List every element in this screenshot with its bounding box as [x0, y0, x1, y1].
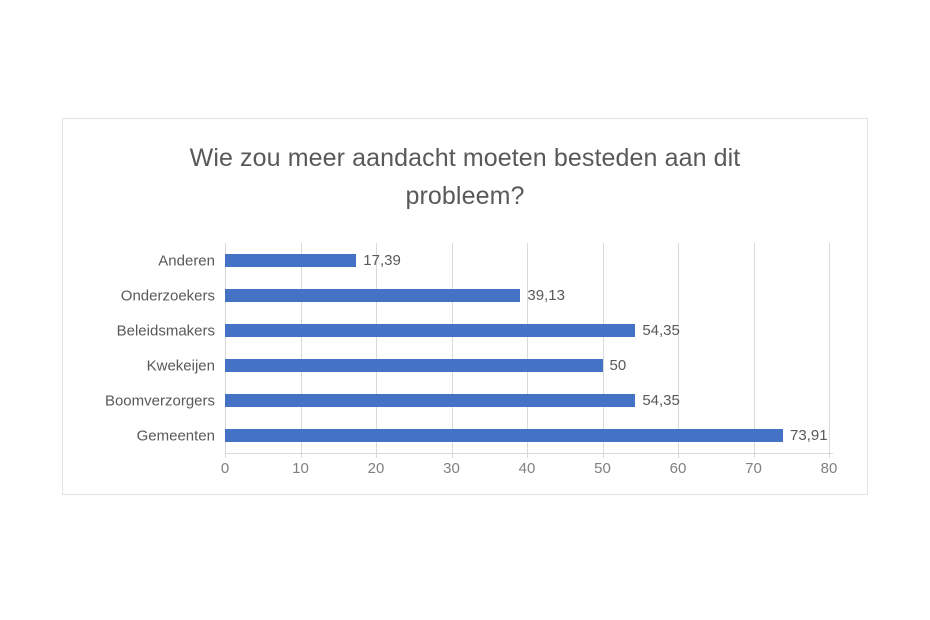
bar[interactable]	[225, 289, 520, 302]
x-axis-tick	[376, 453, 377, 458]
bar-row: Boomverzorgers54,35	[225, 383, 930, 418]
category-label: Kwekeijen	[147, 357, 215, 374]
chart-title: Wie zou meer aandacht moeten besteden aa…	[63, 139, 867, 215]
x-axis-tick-label: 80	[821, 460, 838, 477]
bar-value-label: 54,35	[642, 322, 680, 339]
x-axis-tick	[829, 453, 830, 458]
x-axis-tick	[754, 453, 755, 458]
chart-container: Wie zou meer aandacht moeten besteden aa…	[62, 118, 868, 495]
bar-value-label: 50	[610, 357, 627, 374]
bar-row: Beleidsmakers54,35	[225, 313, 930, 348]
bar-row: Anderen17,39	[225, 243, 930, 278]
x-axis-tick-label: 0	[221, 460, 229, 477]
bar-row: Kwekeijen50	[225, 348, 930, 383]
x-axis-tick	[452, 453, 453, 458]
category-label: Gemeenten	[137, 427, 215, 444]
x-axis-tick-label: 10	[292, 460, 309, 477]
x-axis-tick-label: 50	[594, 460, 611, 477]
x-axis-tick	[527, 453, 528, 458]
x-axis-line	[225, 453, 833, 454]
category-label: Onderzoekers	[121, 287, 215, 304]
bar-value-label: 54,35	[642, 392, 680, 409]
x-axis-tick-label: 30	[443, 460, 460, 477]
chart-title-line-1: Wie zou meer aandacht moeten besteden aa…	[118, 139, 812, 177]
category-label: Anderen	[158, 252, 215, 269]
x-axis-tick	[678, 453, 679, 458]
x-axis-tick-label: 40	[519, 460, 536, 477]
plot-area: Anderen17,39Onderzoekers39,13Beleidsmake…	[225, 243, 829, 453]
bar[interactable]	[225, 324, 635, 337]
x-axis-tick-label: 20	[368, 460, 385, 477]
bar[interactable]	[225, 394, 635, 407]
bar[interactable]	[225, 359, 603, 372]
bar[interactable]	[225, 429, 783, 442]
x-axis-tick	[225, 453, 226, 458]
chart-title-line-2: probleem?	[118, 177, 812, 215]
category-label: Boomverzorgers	[105, 392, 215, 409]
bar-value-label: 17,39	[363, 252, 401, 269]
bar[interactable]	[225, 254, 356, 267]
bar-row: Onderzoekers39,13	[225, 278, 930, 313]
x-axis-tick-label: 70	[745, 460, 762, 477]
bar-value-label: 39,13	[527, 287, 565, 304]
bar-row: Gemeenten73,91	[225, 418, 930, 453]
x-axis-tick	[603, 453, 604, 458]
category-label: Beleidsmakers	[117, 322, 215, 339]
bar-value-label: 73,91	[790, 427, 828, 444]
x-axis-tick-label: 60	[670, 460, 687, 477]
x-axis-tick	[301, 453, 302, 458]
